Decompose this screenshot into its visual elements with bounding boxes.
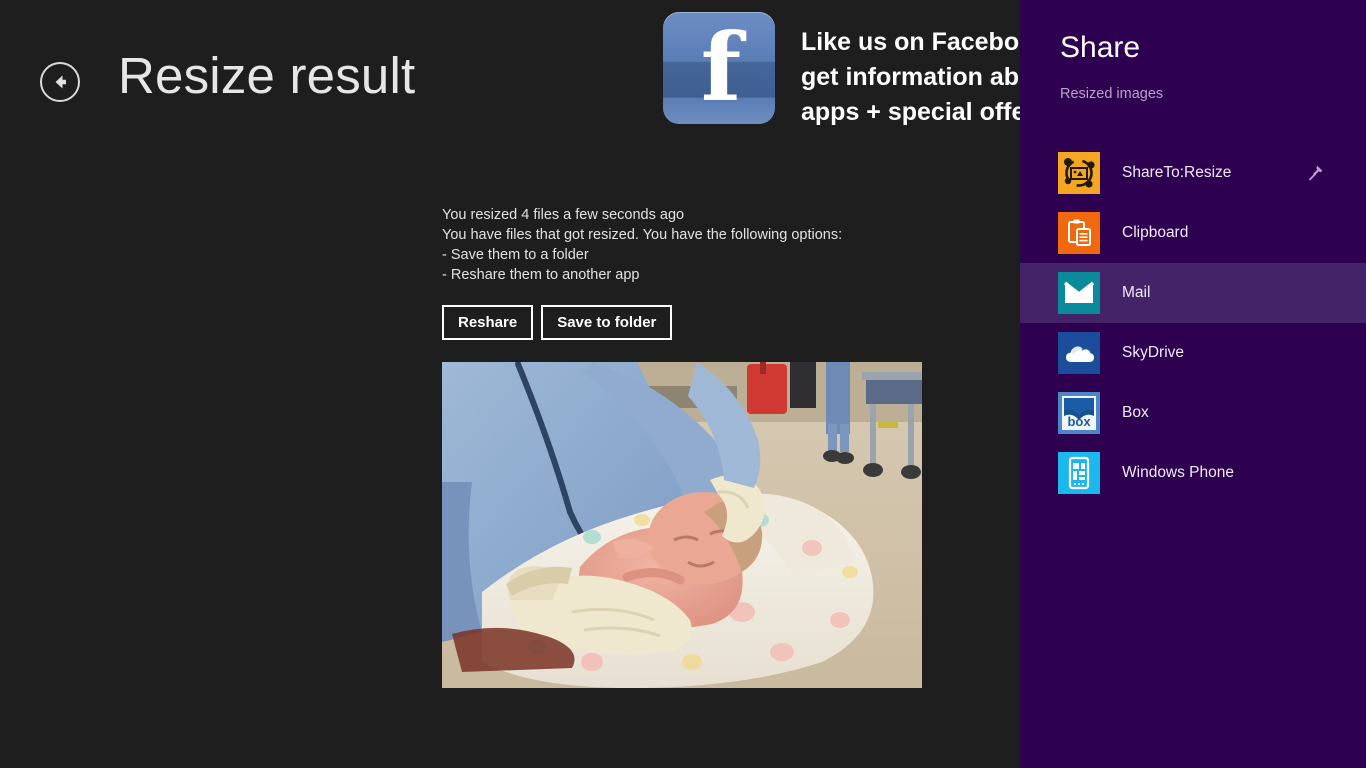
resize-result-content: You resized 4 files a few seconds ago Yo… [442, 205, 1002, 340]
back-arrow-icon [49, 71, 71, 93]
share-item-label: ShareTo:Resize [1122, 165, 1231, 181]
share-panel: Share Resized images [1020, 0, 1366, 768]
share-item-label: Clipboard [1122, 225, 1188, 241]
skydrive-cloud-icon [1058, 332, 1100, 374]
option-reshare: - Reshare them to another app [442, 265, 1002, 285]
share-item-label: SkyDrive [1122, 345, 1184, 361]
facebook-logo-icon: f [663, 12, 775, 124]
box-logo-icon: box [1058, 392, 1100, 434]
save-to-folder-button[interactable]: Save to folder [541, 305, 672, 340]
ad-line-3: apps + special offe [801, 95, 1020, 128]
share-item-label: Box [1122, 405, 1149, 421]
share-item-label: Windows Phone [1122, 465, 1234, 481]
share-item-mail[interactable]: Mail [1020, 263, 1366, 323]
facebook-ad-text: Like us on Faceboo get information ab ap… [801, 12, 1020, 128]
share-item-windows-phone[interactable]: Windows Phone [1020, 443, 1366, 503]
page-title: Resize result [118, 45, 415, 106]
share-item-clipboard[interactable]: Clipboard [1020, 203, 1366, 263]
status-line-resized-count: You resized 4 files a few seconds ago [442, 205, 1002, 225]
status-line-options-intro: You have files that got resized. You hav… [442, 225, 1002, 245]
back-button[interactable] [40, 62, 80, 102]
resized-image-preview[interactable] [442, 362, 922, 688]
share-item-label: Mail [1122, 285, 1150, 301]
facebook-f-glyph: f [663, 12, 775, 124]
ad-line-2: get information ab [801, 60, 1020, 95]
pushpin-icon[interactable] [1306, 164, 1324, 182]
share-item-shareto-resize[interactable]: ShareTo:Resize [1020, 143, 1366, 203]
mail-envelope-icon [1058, 272, 1100, 314]
share-target-list: ShareTo:Resize [1020, 143, 1366, 503]
app-window: Resize result f Like us on Faceboo get i… [0, 0, 1366, 768]
share-panel-title: Share [1060, 30, 1140, 66]
option-save-to-folder: - Save them to a folder [442, 245, 1002, 265]
windows-phone-icon [1058, 452, 1100, 494]
facebook-ad-banner[interactable]: f Like us on Faceboo get information ab … [663, 12, 1020, 128]
action-button-row: Reshare Save to folder [442, 305, 1002, 340]
newborn-photo-illustration [442, 362, 922, 688]
share-panel-subtitle: Resized images [1060, 85, 1163, 104]
reshare-button[interactable]: Reshare [442, 305, 533, 340]
svg-text:box: box [1067, 414, 1091, 429]
ad-line-1: Like us on Faceboo [801, 25, 1020, 60]
clipboard-icon [1058, 212, 1100, 254]
share-item-skydrive[interactable]: SkyDrive [1020, 323, 1366, 383]
share-item-box[interactable]: box Box [1020, 383, 1366, 443]
share-to-resize-icon [1058, 152, 1100, 194]
